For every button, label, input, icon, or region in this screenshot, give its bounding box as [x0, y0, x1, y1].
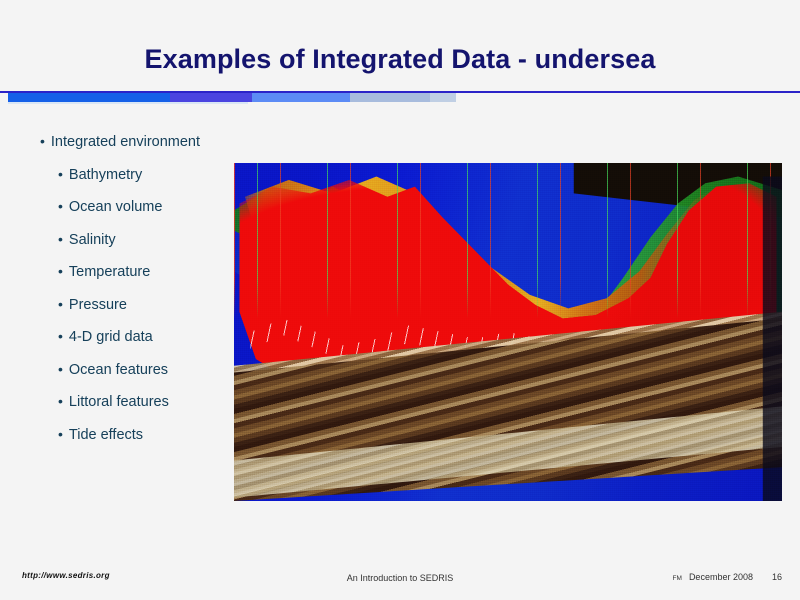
- bullet-dot-icon: •: [40, 134, 45, 148]
- bullet-item-label: Pressure: [69, 298, 127, 313]
- bullet-item: •Temperature: [40, 264, 240, 280]
- page-title: Examples of Integrated Data - undersea: [0, 44, 800, 75]
- bullet-item-label: Temperature: [69, 265, 150, 280]
- bullet-dot-icon: •: [58, 362, 63, 376]
- bullet-dot-icon: •: [58, 199, 63, 213]
- bullet-dot-icon: •: [58, 329, 63, 343]
- title-bar-segment-4: [350, 93, 430, 102]
- title-bar-segment-5: [430, 93, 456, 102]
- bullet-dot-icon: •: [58, 264, 63, 278]
- title-bar-segment-2: [170, 93, 252, 102]
- bullet-item: •Salinity: [40, 232, 240, 248]
- raster-noise-overlay: [234, 163, 782, 501]
- bullet-item-label: Ocean features: [69, 363, 168, 378]
- bullet-item-label: Bathymetry: [69, 168, 142, 183]
- bullet-item: •Ocean features: [40, 362, 240, 378]
- footer-author-initials: FM: [673, 575, 682, 582]
- title-bar-segment-3: [252, 93, 350, 102]
- bullet-item-label: Ocean volume: [69, 200, 163, 215]
- bullet-item-label: Integrated environment: [51, 135, 200, 150]
- bullet-dot-icon: •: [58, 297, 63, 311]
- bullet-item-label: Tide effects: [69, 428, 143, 443]
- bullet-dot-icon: •: [58, 394, 63, 408]
- bullet-dot-icon: •: [58, 167, 63, 181]
- bullet-item-label: Salinity: [69, 233, 116, 248]
- bullet-dot-icon: •: [58, 232, 63, 246]
- bullet-list: •Integrated environment•Bathymetry•Ocean…: [40, 134, 240, 459]
- bullet-item: •4-D grid data: [40, 329, 240, 345]
- bullet-item: •Integrated environment: [40, 134, 240, 150]
- bullet-item-label: 4-D grid data: [69, 330, 153, 345]
- title-bar-segment-1: [8, 93, 170, 102]
- footer-meta: FM December 2008 16: [673, 572, 782, 582]
- bullet-dot-icon: •: [58, 427, 63, 441]
- bullet-item: •Pressure: [40, 297, 240, 313]
- bullet-item: •Ocean volume: [40, 199, 240, 215]
- undersea-visualization-figure: [234, 163, 782, 501]
- title-bar-underline: [8, 102, 248, 104]
- bullet-item-label: Littoral features: [69, 395, 169, 410]
- footer-page-number: 16: [772, 572, 782, 582]
- bullet-item: •Bathymetry: [40, 167, 240, 183]
- bullet-item: •Littoral features: [40, 394, 240, 410]
- title-color-bar: [8, 93, 456, 102]
- footer-date: December 2008: [689, 572, 753, 582]
- bullet-item: •Tide effects: [40, 427, 240, 443]
